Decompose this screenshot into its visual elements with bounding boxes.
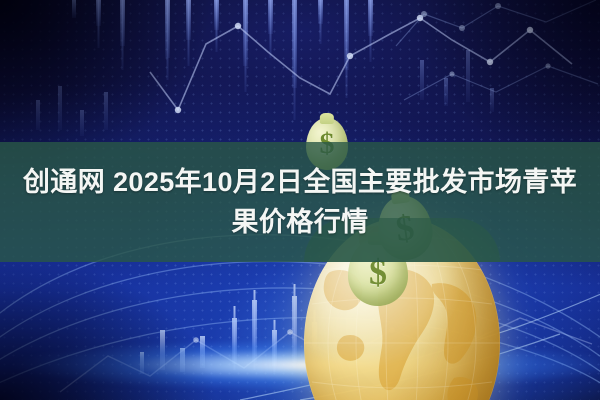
page-title: 创通网 2025年10月2日全国主要批发市场青苹 果价格行情 — [0, 142, 600, 262]
title-line-1: 创通网 2025年10月2日全国主要批发市场青苹 — [23, 162, 577, 202]
banner-image: $ $ $ 创通网 2025年10月2日全国主要批发市场青苹 果价格行情 — [0, 0, 600, 400]
title-line-2: 果价格行情 — [232, 202, 369, 242]
